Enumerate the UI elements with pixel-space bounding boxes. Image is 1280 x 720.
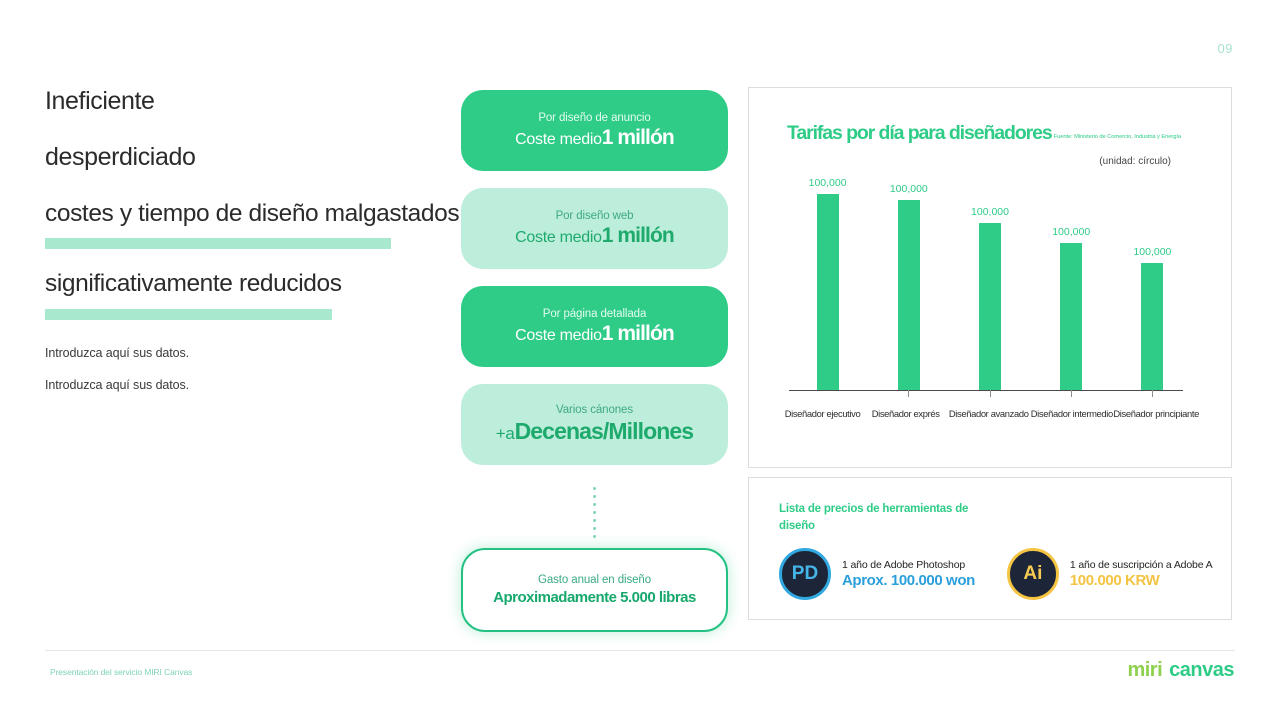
design-tools-title: Lista de precios de herramientas de dise… — [779, 501, 994, 534]
chart-category-labels: Diseñador ejecutivo Diseñador exprés Dis… — [781, 408, 1199, 419]
annual-spend-label: Gasto anual en diseño — [538, 574, 651, 586]
connector-dot — [593, 495, 596, 498]
headline-line-4: significativamente reducidos — [45, 271, 445, 297]
annual-spend-card[interactable]: Gasto anual en diseño Aproximadamente 5.… — [461, 548, 728, 632]
left-column: Ineficiente desperdiciado costes y tiemp… — [45, 88, 445, 392]
axis-tick — [949, 390, 1030, 397]
connector-dot — [593, 503, 596, 506]
axis-tick — [787, 390, 868, 397]
bar-value-label: 100,000 — [971, 206, 1009, 218]
slide: 09 Ineficiente desperdiciado costes y ti… — [0, 0, 1280, 720]
cost-card-web-design-label: Por diseño web — [556, 210, 634, 222]
design-tools-list: PD 1 año de Adobe Photoshop Aprox. 100.0… — [779, 548, 1231, 600]
bar — [1060, 243, 1082, 390]
bar-group: 100,000 — [949, 177, 1030, 390]
photoshop-price: Aprox. 100.000 won — [842, 572, 975, 589]
chart-bars: 100,000 100,000 100,000 100,000 — [787, 177, 1193, 390]
rates-chart-panel: Tarifas por día para diseñadores Fuente:… — [748, 87, 1232, 468]
cost-card-detail-page-value: Coste medio 1 millón — [515, 322, 674, 346]
category-label: Diseñador principiante — [1113, 408, 1199, 419]
bar — [898, 200, 920, 390]
illustrator-price: 100.000 KRW — [1070, 572, 1213, 589]
miri-canvas-logo: miri canvas — [1127, 659, 1234, 682]
right-column: Tarifas por día para diseñadores Fuente:… — [748, 87, 1232, 620]
bar — [979, 223, 1001, 390]
illustrator-label: 1 año de suscripción a Adobe A — [1070, 559, 1213, 571]
cost-card-ad-design-label: Por diseño de anuncio — [538, 112, 650, 124]
cost-card-various-fees[interactable]: Varios cánones +a Decenas/Millones — [461, 384, 728, 465]
bar-group: 100,000 — [1031, 177, 1112, 390]
axis-tick — [1112, 390, 1193, 397]
chart-source-note: Fuente: Ministerio de Comercio, Industri… — [1054, 134, 1181, 140]
category-label: Diseñador avanzado — [947, 408, 1030, 419]
design-tools-panel: Lista de precios de herramientas de dise… — [748, 477, 1232, 620]
cost-card-ad-design-value: Coste medio 1 millón — [515, 126, 674, 150]
chart-title: Tarifas por día para diseñadores — [787, 122, 1052, 145]
category-label: Diseñador ejecutivo — [781, 408, 864, 419]
cost-card-web-design-prefix: Coste medio — [515, 229, 602, 247]
chart-plot-area: 100,000 100,000 100,000 100,000 — [773, 177, 1207, 425]
bar-group: 100,000 — [787, 177, 868, 390]
connector-dot — [593, 519, 596, 522]
cost-card-various-fees-prefix: +a — [496, 424, 515, 444]
tool-item-illustrator-text: 1 año de suscripción a Adobe A 100.000 K… — [1070, 559, 1213, 589]
footer-caption: Presentación del servicio MIRI Canvas — [50, 667, 192, 677]
connector-dot — [593, 527, 596, 530]
connector-dot — [593, 511, 596, 514]
annual-spend-amount: Aproximadamente 5.000 libras — [493, 589, 696, 606]
illustrator-icon: Ai — [1007, 548, 1059, 600]
cost-card-detail-page[interactable]: Por página detallada Coste medio 1 milló… — [461, 286, 728, 367]
cost-card-ad-design-prefix: Coste medio — [515, 131, 602, 149]
cost-card-web-design[interactable]: Por diseño web Coste medio 1 millón — [461, 188, 728, 269]
bar-value-label: 100,000 — [1133, 246, 1171, 258]
cost-card-web-design-amount: 1 millón — [602, 224, 674, 248]
photoshop-label: 1 año de Adobe Photoshop — [842, 559, 975, 571]
tool-item-photoshop[interactable]: PD 1 año de Adobe Photoshop Aprox. 100.0… — [779, 548, 975, 600]
bar — [1141, 263, 1163, 390]
cost-card-detail-page-prefix: Coste medio — [515, 327, 602, 345]
headline-line-2: desperdiciado — [45, 144, 445, 170]
cost-card-ad-design[interactable]: Por diseño de anuncio Coste medio 1 mill… — [461, 90, 728, 171]
sub-line-2: Introduzca aquí sus datos. — [45, 378, 445, 392]
cost-card-various-fees-value: +a Decenas/Millones — [496, 418, 693, 445]
bar-group: 100,000 — [868, 177, 949, 390]
chart-unit-note: (unidad: círculo) — [773, 156, 1207, 167]
headline-line-1: Ineficiente — [45, 88, 445, 114]
connector-dot — [593, 535, 596, 538]
page-number: 09 — [1218, 41, 1233, 56]
connector-dot — [593, 487, 596, 490]
logo-word-canvas: canvas — [1169, 659, 1234, 682]
axis-tick — [868, 390, 949, 397]
cost-card-various-fees-amount: Decenas/Millones — [515, 418, 694, 445]
category-label: Diseñador exprés — [864, 408, 947, 419]
photoshop-icon: PD — [779, 548, 831, 600]
bar-group: 100,000 — [1112, 177, 1193, 390]
cost-card-detail-page-amount: 1 millón — [602, 322, 674, 346]
headline-highlight-2 — [45, 309, 332, 320]
tool-item-photoshop-text: 1 año de Adobe Photoshop Aprox. 100.000 … — [842, 559, 975, 589]
cost-card-ad-design-amount: 1 millón — [602, 126, 674, 150]
cost-card-web-design-value: Coste medio 1 millón — [515, 224, 674, 248]
cost-card-stack: Por diseño de anuncio Coste medio 1 mill… — [461, 90, 728, 632]
chart-x-ticks — [787, 390, 1193, 397]
logo-word-miri: miri — [1127, 659, 1162, 682]
bar-value-label: 100,000 — [1052, 226, 1090, 238]
headline-highlight-1 — [45, 238, 391, 249]
bar — [817, 194, 839, 390]
headline-line-3: costes y tiempo de diseño malgastados — [45, 201, 445, 227]
bar-value-label: 100,000 — [890, 183, 928, 195]
dotted-connector — [461, 482, 728, 542]
cost-card-detail-page-label: Por página detallada — [543, 308, 647, 320]
axis-tick — [1031, 390, 1112, 397]
tool-item-illustrator[interactable]: Ai 1 año de suscripción a Adobe A 100.00… — [1007, 548, 1213, 600]
chart-header: Tarifas por día para diseñadores Fuente:… — [773, 122, 1207, 145]
category-label: Diseñador intermedio — [1030, 408, 1113, 419]
bar-value-label: 100,000 — [809, 177, 847, 189]
cost-card-various-fees-label: Varios cánones — [556, 404, 633, 416]
footer-divider — [45, 650, 1235, 651]
sub-line-1: Introduzca aquí sus datos. — [45, 346, 445, 360]
